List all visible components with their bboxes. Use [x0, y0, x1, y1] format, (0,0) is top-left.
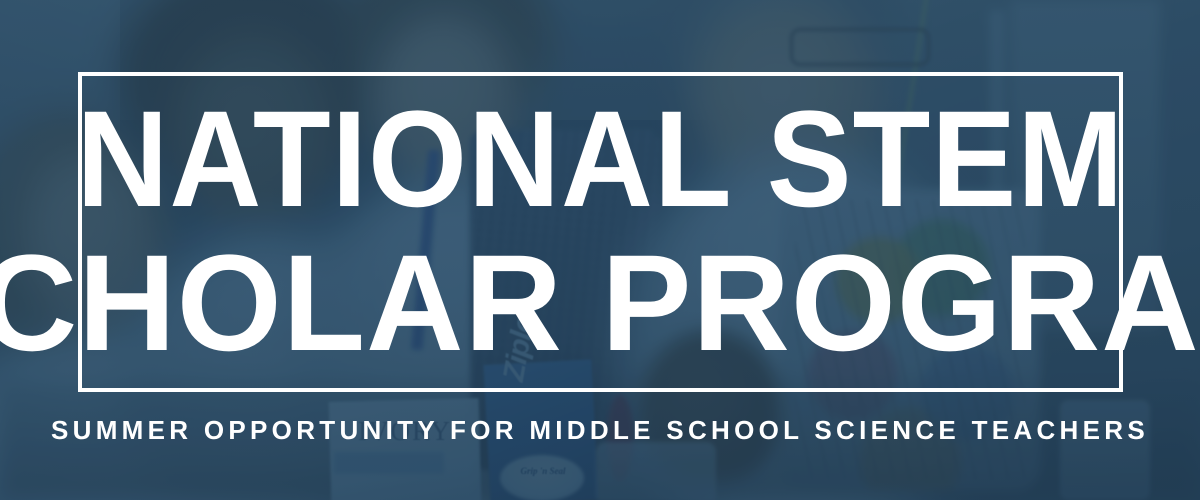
banner-content: NATIONAL STEM SCHOLAR PROGRAM SUMMER OPP…: [0, 0, 1200, 500]
title-line-1: NATIONAL STEM: [77, 93, 1125, 227]
page-title: NATIONAL STEM SCHOLAR PROGRAM: [78, 72, 1123, 392]
stem-program-banner: IVORY Ziploc Grip 'n Seal NATIONAL STEM …: [0, 0, 1200, 500]
banner-subtitle: SUMMER OPPORTUNITY FOR MIDDLE SCHOOL SCI…: [0, 415, 1200, 446]
title-line-2: SCHOLAR PROGRAM: [0, 237, 1200, 371]
